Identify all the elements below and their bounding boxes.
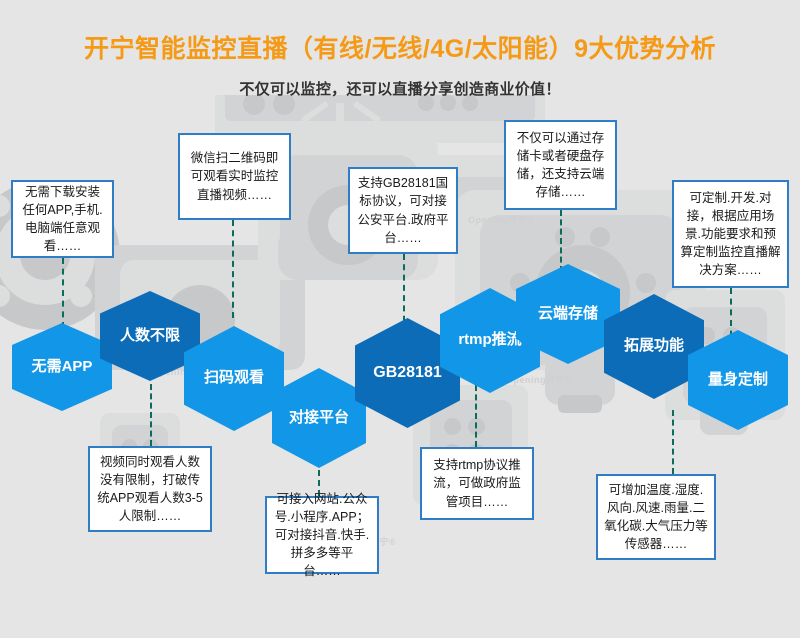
callout-platforms: 可接入网站.公众号.小程序.APP；可对接抖音.快手.拼多多等平台…… <box>265 496 379 574</box>
hex-label: 扫码观看 <box>200 370 268 387</box>
callout-scan-watch: 微信扫二维码即可观看实时监控直播视频…… <box>178 133 291 220</box>
hex-label: 量身定制 <box>704 372 772 389</box>
hex-label: 对接平台 <box>285 410 353 427</box>
callout-customization: 可定制.开发.对接，根据应用场景.功能要求和预算定制监控直播解决方案…… <box>672 180 789 288</box>
callout-text: 微信扫二维码即可观看实时监控直播视频…… <box>180 147 289 205</box>
callout-text: 可接入网站.公众号.小程序.APP；可对接抖音.快手.拼多多等平台…… <box>267 488 377 583</box>
callout-cloud-storage: 不仅可以通过存储卡或者硬盘存储，还支持云端存储…… <box>504 120 617 210</box>
callout-no-app: 无需下载安装任何APP,手机.电脑端任意观看…… <box>11 180 114 258</box>
callout-text: 支持rtmp协议推流，可做政府监管项目…… <box>422 454 532 512</box>
page-subtitle: 不仅可以监控，还可以直播分享创造商业价值！ <box>0 78 800 99</box>
callout-gb28181: 支持GB28181国标协议，可对接公安平台.政府平台…… <box>348 167 458 254</box>
connector-line-sensors <box>672 410 674 474</box>
callout-text: 视频同时观看人数没有限制，打破传统APP观看人数3-5人限制…… <box>90 451 210 528</box>
connector-line-scan-watch <box>232 220 234 318</box>
callout-rtmp: 支持rtmp协议推流，可做政府监管项目…… <box>420 447 534 520</box>
hex-label: 云端存储 <box>534 306 602 323</box>
connector-line-unlimited <box>150 384 152 446</box>
callout-text: 不仅可以通过存储卡或者硬盘存储，还支持云端存储…… <box>506 127 615 204</box>
connector-line-rtmp <box>475 385 477 447</box>
hex-label: GB28181 <box>369 364 446 382</box>
callout-unlimited-viewers: 视频同时观看人数没有限制，打破传统APP观看人数3-5人限制…… <box>88 446 212 532</box>
callout-text: 支持GB28181国标协议，可对接公安平台.政府平台…… <box>350 172 456 249</box>
infographic-canvas: Opening开宁® Opening开宁® Opening开宁® Opening… <box>0 0 800 638</box>
hex-label: 拓展功能 <box>620 338 688 355</box>
callout-text: 可增加温度.湿度.风向.风速.雨量.二氧化碳.大气压力等传感器…… <box>598 479 714 556</box>
watermark: Opening开宁® <box>468 213 534 226</box>
hex-label: rtmp推流 <box>454 332 525 349</box>
hex-label: 人数不限 <box>116 328 184 345</box>
callout-text: 可定制.开发.对接，根据应用场景.功能要求和预算定制监控直播解决方案…… <box>674 187 787 282</box>
connector-line-no-app <box>62 258 64 328</box>
connector-line-cloud <box>560 210 562 272</box>
hex-label: 无需APP <box>28 359 97 376</box>
callout-text: 无需下载安装任何APP,手机.电脑端任意观看…… <box>13 181 112 258</box>
callout-sensors: 可增加温度.湿度.风向.风速.雨量.二氧化碳.大气压力等传感器…… <box>596 474 716 560</box>
page-title: 开宁智能监控直播（有线/无线/4G/太阳能）9大优势分析 <box>0 29 800 65</box>
